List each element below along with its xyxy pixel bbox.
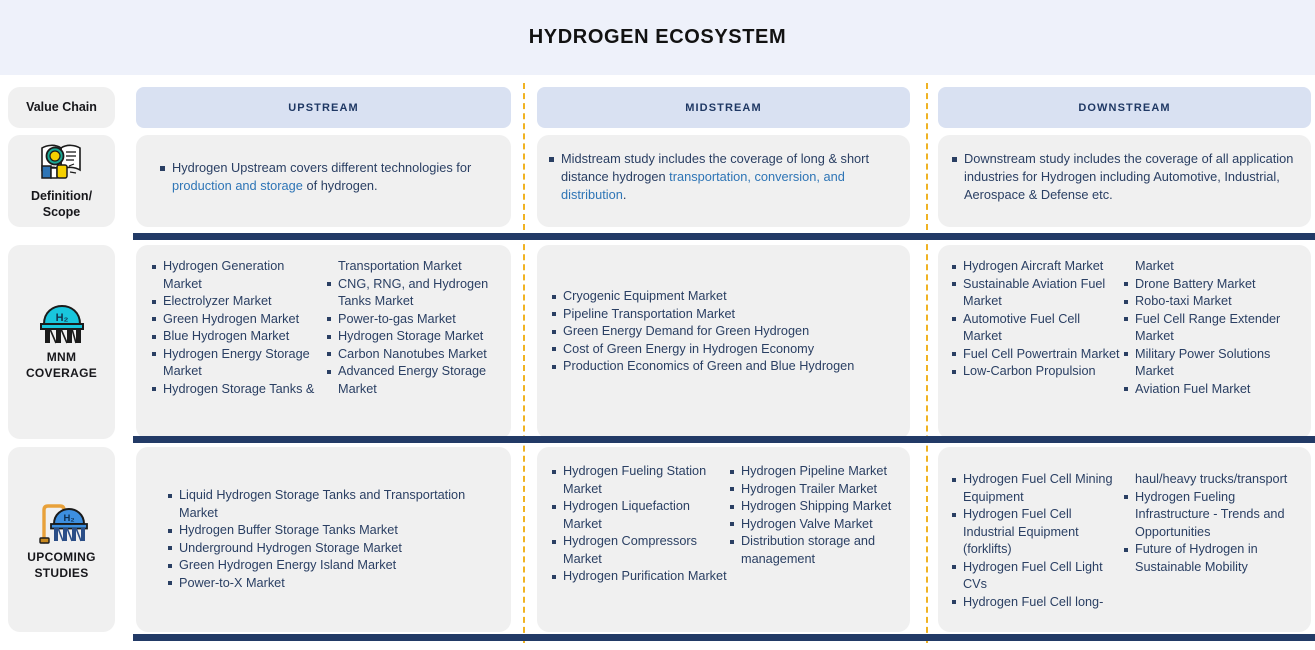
list-item: Hydrogen Aircraft Market bbox=[950, 258, 1122, 276]
list-item-continuation: Transportation Market bbox=[325, 258, 505, 276]
column-header-midstream[interactable]: MIDSTREAM bbox=[537, 87, 910, 128]
list-item: Drone Battery Market bbox=[1122, 276, 1302, 294]
definition-panel-upstream: Hydrogen Upstream covers different techn… bbox=[136, 135, 511, 227]
list-item: Distribution storage and management bbox=[728, 533, 903, 568]
bottom-divider bbox=[133, 634, 1315, 641]
list-item: Hydrogen Trailer Market bbox=[728, 481, 903, 499]
svg-text:H₂: H₂ bbox=[63, 513, 74, 524]
upcoming-downstream-col1: Hydrogen Fuel Cell Mining EquipmentHydro… bbox=[950, 471, 1122, 611]
upcoming-midstream-col2: Hydrogen Pipeline MarketHydrogen Trailer… bbox=[728, 463, 903, 586]
list-item: Aviation Fuel Market bbox=[1122, 381, 1302, 399]
coverage-upstream-col2: Transportation MarketCNG, RNG, and Hydro… bbox=[325, 258, 505, 398]
upcoming-list-downstream: Hydrogen Fuel Cell Mining EquipmentHydro… bbox=[950, 471, 1315, 611]
upcoming-list-midstream: Hydrogen Fueling Station MarketHydrogen … bbox=[550, 463, 910, 586]
list-item-continuation: haul/heavy trucks/transport bbox=[1122, 471, 1302, 489]
list-item: CNG, RNG, and Hydrogen Tanks Market bbox=[325, 276, 505, 311]
svg-text:H₂: H₂ bbox=[55, 312, 68, 324]
list-item: Production Economics of Green and Blue H… bbox=[550, 358, 900, 376]
sidebar-label-mnm-coverage-line1: MNM bbox=[47, 350, 77, 366]
list-item: Green Hydrogen Market bbox=[150, 311, 325, 329]
coverage-list-upstream: Hydrogen Generation MarketElectrolyzer M… bbox=[150, 258, 510, 398]
list-item: Hydrogen Buffer Storage Tanks Market bbox=[166, 522, 496, 540]
list-item: Underground Hydrogen Storage Market bbox=[166, 540, 496, 558]
list-item: Hydrogen Fuel Cell Mining Equipment bbox=[950, 471, 1122, 506]
list-item: Liquid Hydrogen Storage Tanks and Transp… bbox=[166, 487, 496, 522]
upcoming-downstream-col2: haul/heavy trucks/transportHydrogen Fuel… bbox=[1122, 471, 1302, 611]
list-item: Low-Carbon Propulsion bbox=[950, 363, 1122, 381]
list-item: Future of Hydrogen in Sustainable Mobili… bbox=[1122, 541, 1302, 576]
list-item: Hydrogen Fuel Cell Light CVs bbox=[950, 559, 1122, 594]
column-header-downstream[interactable]: DOWNSTREAM bbox=[938, 87, 1311, 128]
list-item: Green Hydrogen Energy Island Market bbox=[166, 557, 496, 575]
sidebar-label-value-chain: Value Chain bbox=[26, 99, 97, 115]
coverage-midstream-col1: Cryogenic Equipment MarketPipeline Trans… bbox=[550, 288, 900, 376]
hydrogen-fueling-station-icon: H₂ bbox=[34, 498, 90, 544]
definition-panel-downstream: Downstream study includes the coverage o… bbox=[938, 135, 1311, 227]
list-item: Carbon Nanotubes Market bbox=[325, 346, 505, 364]
list-item: Cryogenic Equipment Market bbox=[550, 288, 900, 306]
coverage-downstream-col1: Hydrogen Aircraft MarketSustainable Avia… bbox=[950, 258, 1122, 398]
list-item: Blue Hydrogen Market bbox=[150, 328, 325, 346]
list-item: Hydrogen Energy Storage Market bbox=[150, 346, 325, 381]
list-item: Fuel Cell Range Extender Market bbox=[1122, 311, 1302, 346]
definition-downstream-before: Downstream study includes the coverage o… bbox=[964, 151, 1293, 202]
list-item: Robo-taxi Market bbox=[1122, 293, 1302, 311]
definition-upstream-before: Hydrogen Upstream covers different techn… bbox=[172, 160, 471, 175]
row-divider-1 bbox=[133, 233, 1315, 240]
vertical-divider-midstream-downstream bbox=[926, 83, 928, 643]
list-item: Hydrogen Fueling Infrastructure - Trends… bbox=[1122, 489, 1302, 542]
list-item: Sustainable Aviation Fuel Market bbox=[950, 276, 1122, 311]
definition-text-downstream: Downstream study includes the coverage o… bbox=[950, 150, 1314, 204]
sidebar-label-definition-scope-line2: Scope bbox=[43, 204, 81, 220]
definition-upstream-highlight: production and storage bbox=[172, 178, 303, 193]
definition-text-midstream: Midstream study includes the coverage of… bbox=[547, 150, 901, 204]
definition-panel-midstream: Midstream study includes the coverage of… bbox=[537, 135, 910, 227]
list-item: Hydrogen Fuel Cell Industrial Equipment … bbox=[950, 506, 1122, 559]
list-item: Hydrogen Compressors Market bbox=[550, 533, 728, 568]
coverage-downstream-col2: MarketDrone Battery MarketRobo-taxi Mark… bbox=[1122, 258, 1302, 398]
page-title: HYDROGEN ECOSYSTEM bbox=[0, 0, 1315, 75]
hydrogen-tank-icon: H₂ bbox=[36, 302, 88, 344]
magnifier-book-icon bbox=[39, 142, 85, 182]
list-item: Hydrogen Valve Market bbox=[728, 516, 903, 534]
list-item: Hydrogen Generation Market bbox=[150, 258, 325, 293]
ecosystem-grid: Value Chain UPSTREAM MIDSTREAM DOWNSTREA… bbox=[0, 75, 1315, 650]
vertical-divider-upstream-midstream bbox=[523, 83, 525, 643]
list-item: Advanced Energy Storage Market bbox=[325, 363, 505, 398]
sidebar-label-upcoming-studies-line2: STUDIES bbox=[34, 566, 88, 582]
sidebar-item-mnm-coverage[interactable]: H₂ MNM COVERAGE bbox=[8, 245, 115, 439]
upcoming-midstream-col1: Hydrogen Fueling Station MarketHydrogen … bbox=[550, 463, 728, 586]
definition-text-upstream: Hydrogen Upstream covers different techn… bbox=[158, 159, 492, 195]
list-item: Hydrogen Shipping Market bbox=[728, 498, 903, 516]
sidebar-item-upcoming-studies[interactable]: H₂ UPCOMING STUDIES bbox=[8, 447, 115, 632]
list-item: Fuel Cell Powertrain Market bbox=[950, 346, 1122, 364]
list-item: Hydrogen Purification Market bbox=[550, 568, 728, 586]
list-item: Hydrogen Storage Tanks & bbox=[150, 381, 325, 399]
coverage-list-midstream: Cryogenic Equipment MarketPipeline Trans… bbox=[550, 288, 910, 376]
column-header-upstream[interactable]: UPSTREAM bbox=[136, 87, 511, 128]
column-header-downstream-label: DOWNSTREAM bbox=[1078, 102, 1170, 114]
list-item: Hydrogen Fueling Station Market bbox=[550, 463, 728, 498]
sidebar-label-upcoming-studies-line1: UPCOMING bbox=[27, 550, 95, 566]
list-item: Automotive Fuel Cell Market bbox=[950, 311, 1122, 346]
list-item: Hydrogen Liquefaction Market bbox=[550, 498, 728, 533]
list-item: Hydrogen Pipeline Market bbox=[728, 463, 903, 481]
row-divider-2 bbox=[133, 436, 1315, 443]
coverage-list-downstream: Hydrogen Aircraft MarketSustainable Avia… bbox=[950, 258, 1315, 398]
sidebar-item-value-chain[interactable]: Value Chain bbox=[8, 87, 115, 128]
definition-upstream-after: of hydrogen. bbox=[303, 178, 378, 193]
list-item: Military Power Solutions Market bbox=[1122, 346, 1302, 381]
upcoming-list-upstream: Liquid Hydrogen Storage Tanks and Transp… bbox=[166, 487, 506, 592]
list-item: Cost of Green Energy in Hydrogen Economy bbox=[550, 341, 900, 359]
list-item: Power-to-gas Market bbox=[325, 311, 505, 329]
list-item: Power-to-X Market bbox=[166, 575, 496, 593]
definition-midstream-after: . bbox=[623, 187, 627, 202]
column-header-midstream-label: MIDSTREAM bbox=[685, 102, 762, 114]
sidebar-label-mnm-coverage-line2: COVERAGE bbox=[26, 366, 97, 382]
column-header-upstream-label: UPSTREAM bbox=[288, 102, 359, 114]
list-item: Hydrogen Storage Market bbox=[325, 328, 505, 346]
coverage-upstream-col1: Hydrogen Generation MarketElectrolyzer M… bbox=[150, 258, 325, 398]
list-item: Green Energy Demand for Green Hydrogen bbox=[550, 323, 900, 341]
list-item: Hydrogen Fuel Cell long- bbox=[950, 594, 1122, 612]
list-item: Electrolyzer Market bbox=[150, 293, 325, 311]
list-item-continuation: Market bbox=[1122, 258, 1302, 276]
list-item: Pipeline Transportation Market bbox=[550, 306, 900, 324]
sidebar-item-definition-scope[interactable]: Definition/ Scope bbox=[8, 135, 115, 227]
upcoming-upstream-col1: Liquid Hydrogen Storage Tanks and Transp… bbox=[166, 487, 496, 592]
sidebar-label-definition-scope-line1: Definition/ bbox=[31, 188, 92, 204]
